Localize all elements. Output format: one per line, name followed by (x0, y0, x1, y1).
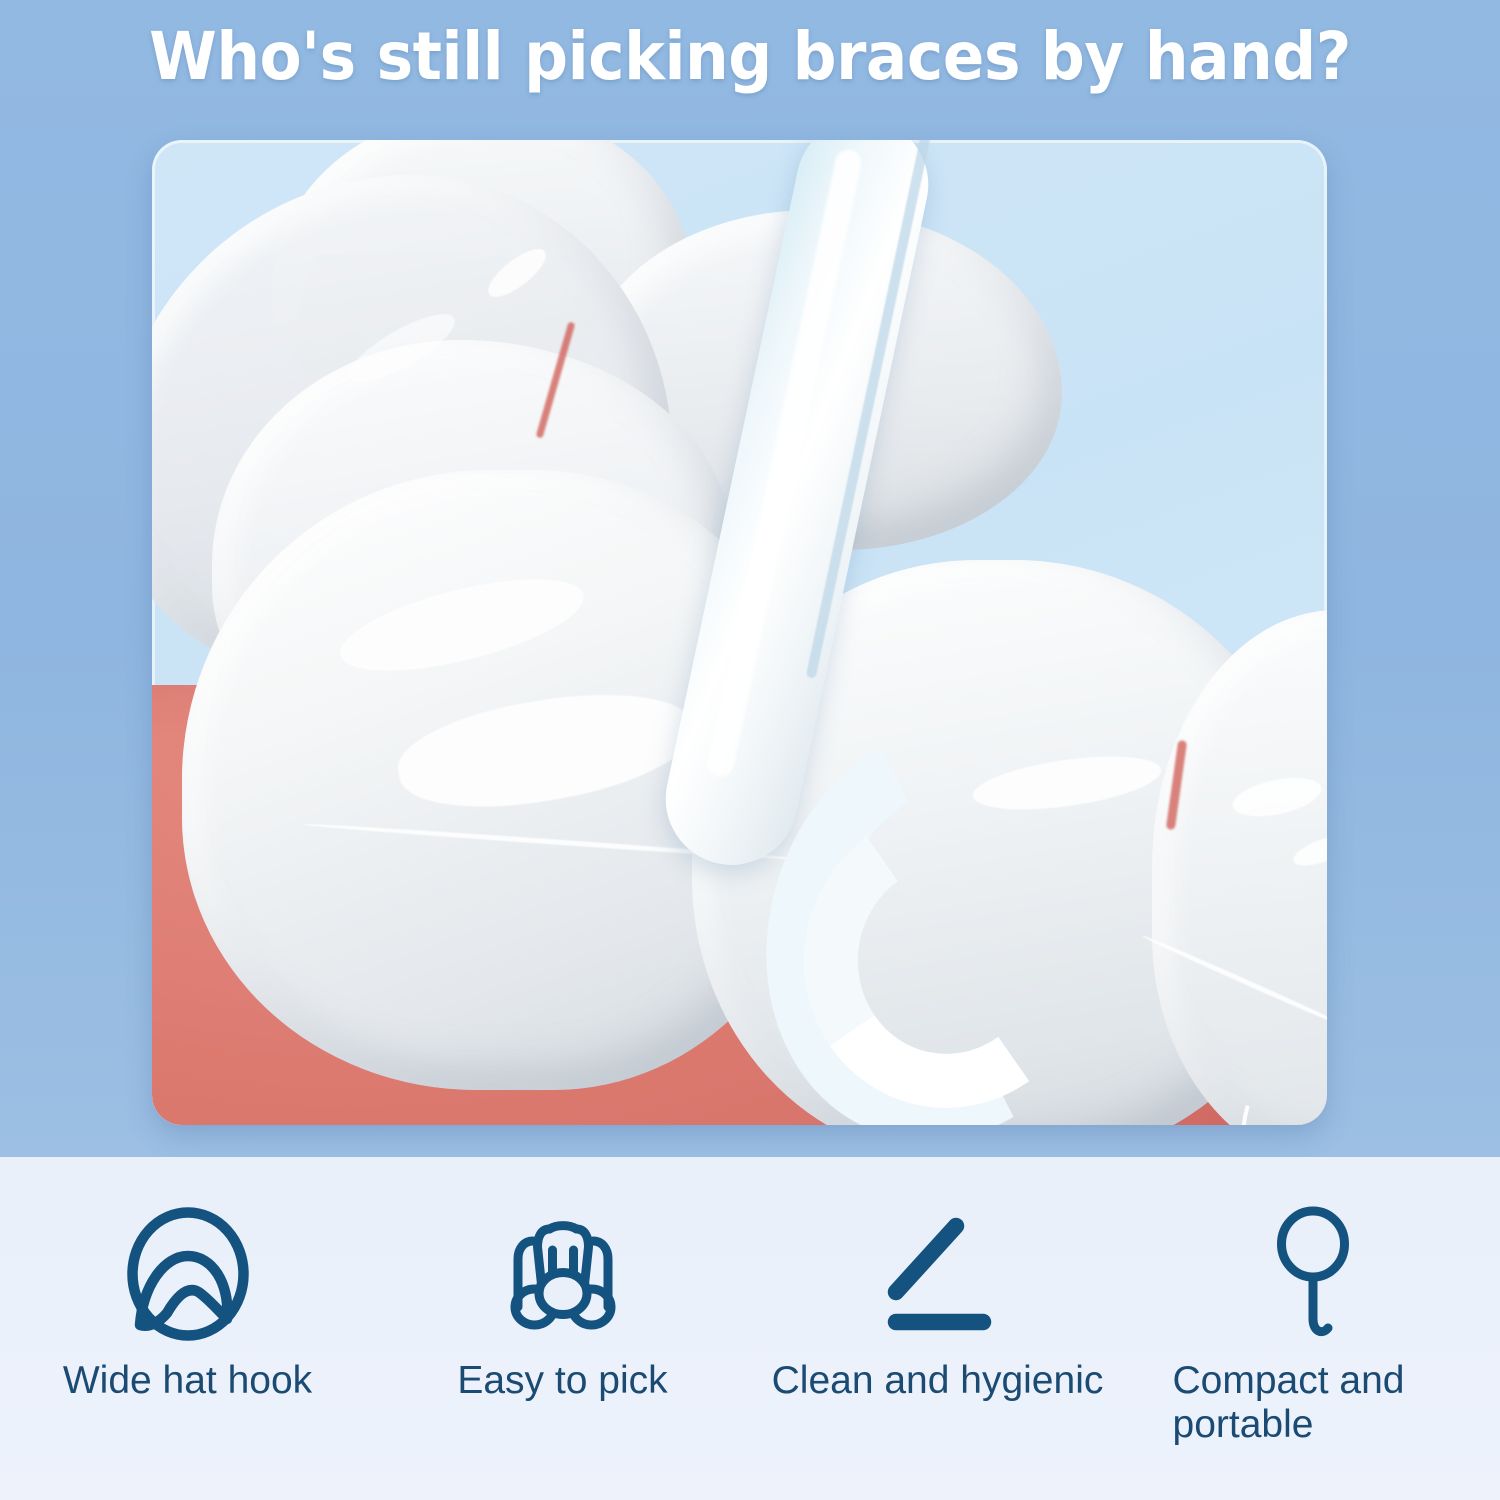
feature-item-wide-hat-hook: Wide hat hook (0, 1157, 375, 1403)
product-marketing-image: Who's still picking braces by hand? (0, 0, 1500, 1500)
page-title: Who's still picking braces by hand? (53, 18, 1448, 95)
wide-hat-hook-icon (113, 1199, 263, 1349)
feature-item-clean-and-hygienic: Clean and hygienic (750, 1157, 1125, 1403)
product-illustration-panel (152, 140, 1327, 1125)
angle-bars-icon (863, 1199, 1013, 1349)
loop-hook-pick-icon (1238, 1199, 1388, 1349)
pick-bundle-icon (488, 1199, 638, 1349)
hero-section: Who's still picking braces by hand? (0, 0, 1500, 1157)
feature-label: Easy to pick (457, 1359, 667, 1403)
feature-label: Wide hat hook (63, 1359, 312, 1403)
feature-strip: Wide hat hook (0, 1157, 1500, 1500)
feature-label: Compact and portable (1173, 1359, 1453, 1446)
feature-item-easy-to-pick: Easy to pick (375, 1157, 750, 1403)
feature-item-compact-and-portable: Compact and portable (1125, 1157, 1500, 1446)
feature-label: Clean and hygienic (772, 1359, 1104, 1403)
